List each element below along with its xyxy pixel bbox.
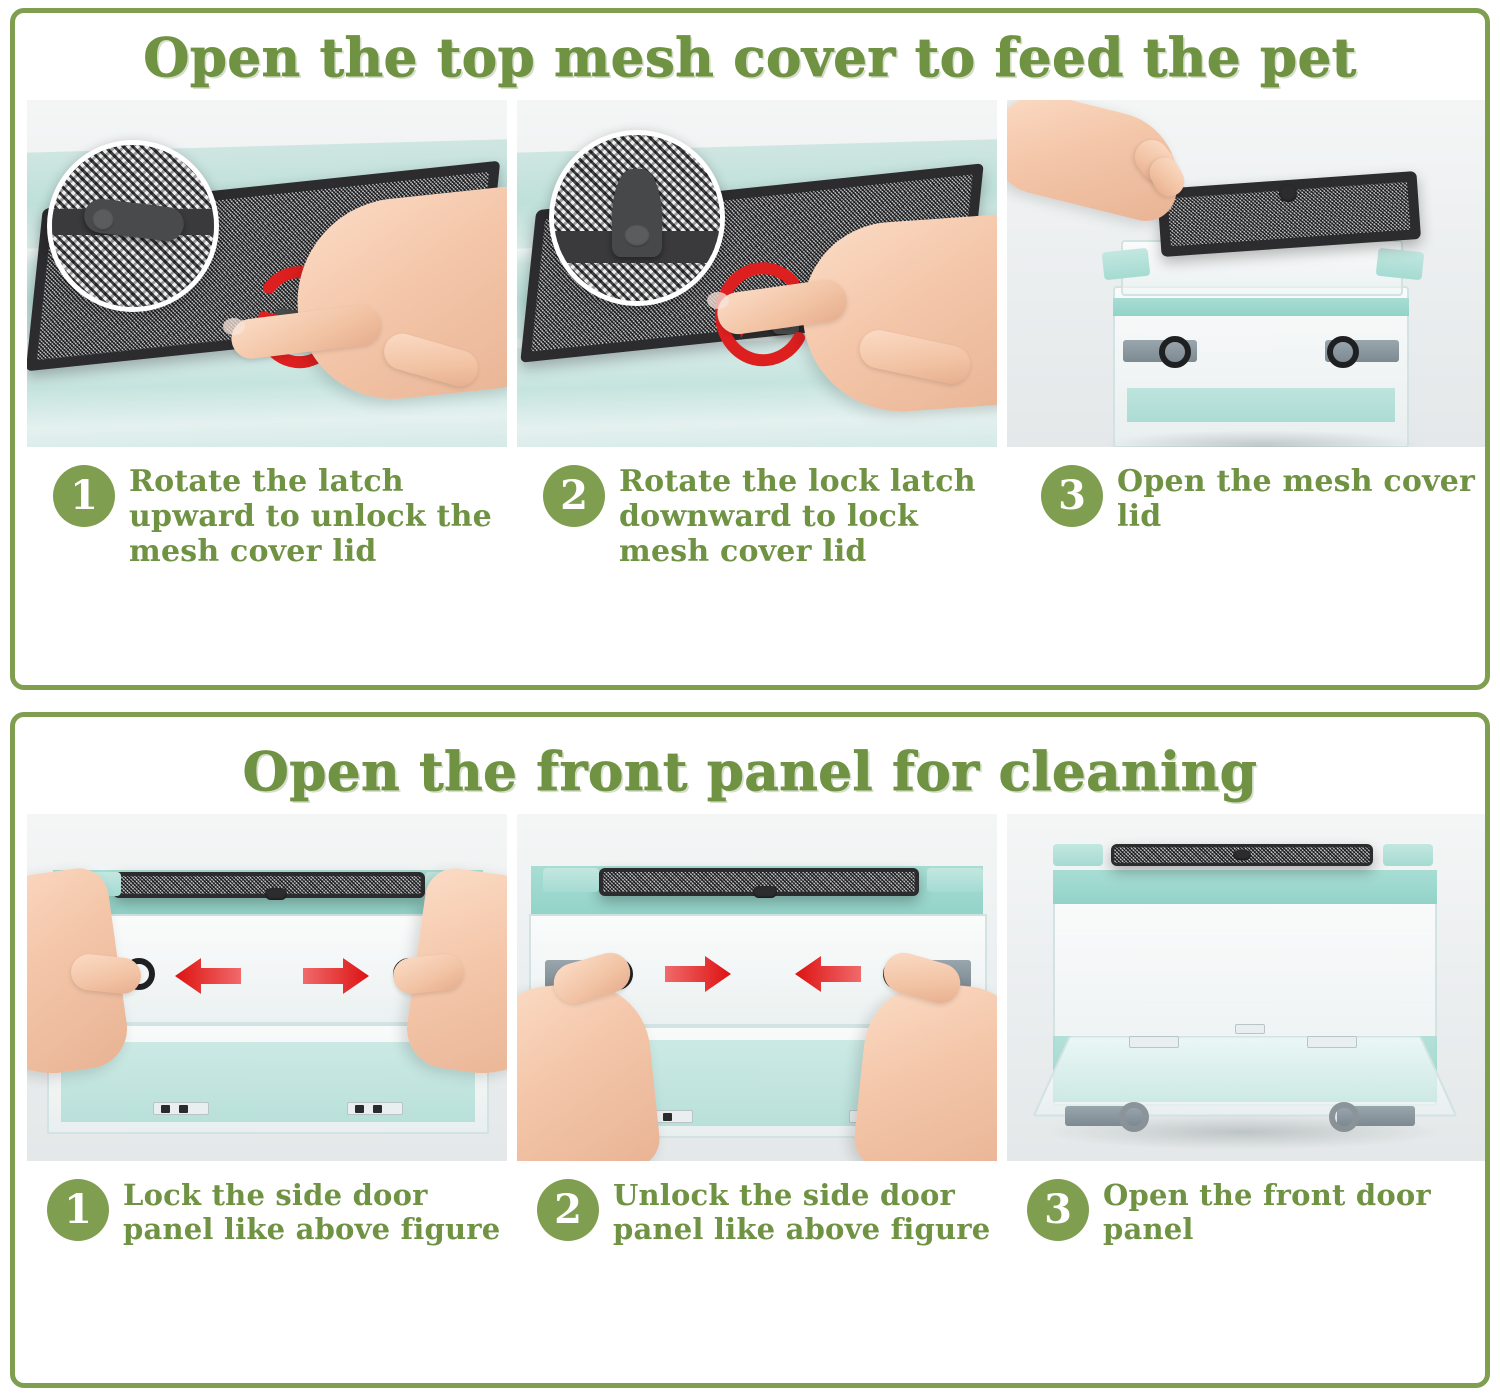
photo-rotate-latch-up [27,100,507,447]
photo-rotate-latch-down [517,100,997,447]
magnifier-callout-latch-horizontal [47,140,219,312]
terrarium-corner-cap-left [1102,247,1151,280]
lid-latch-knob [265,888,287,900]
floor-shadow [1043,1114,1443,1150]
tray-hinge-dot-left-b [179,1105,188,1113]
tray-hinge-dot-left-a [161,1105,170,1113]
tray-hinge-dot-left-b [663,1113,672,1121]
photo-unlock-side-door [517,814,997,1161]
tray-hinge-dot-right-b [373,1105,382,1113]
step-text-3: Open the mesh cover lid [1117,461,1490,535]
section-title-top: Open the top mesh cover to feed the pet [15,13,1485,100]
photo-lift-mesh-lid [1007,100,1487,447]
step-caption-2: 2 Unlock the side door panel like above … [517,1175,1007,1383]
step-badge-2: 2 [537,1179,599,1241]
step-text-1: Lock the side door panel like above figu… [123,1175,517,1246]
step-text-2: Unlock the side door panel like above fi… [613,1175,1007,1246]
arrow-right-outward [303,956,369,996]
infographic-page: Open the top mesh cover to feed the pet [0,0,1500,1400]
terrarium-corner-cap-left [1053,844,1103,866]
lid-latch-knob [753,886,777,898]
section-top-mesh-cover: Open the top mesh cover to feed the pet [10,8,1490,690]
side-lock-ring-left [1159,336,1191,368]
terrarium-corner-cap-right [1376,247,1425,280]
arrow-right-inward [795,954,861,994]
step-badge-1: 1 [53,465,115,527]
door-hinge-clip-left [1129,1036,1179,1048]
section-title-bottom: Open the front panel for cleaning [15,717,1485,814]
callout-latch-knob [92,209,114,231]
terrarium-mint-top-rail [1113,298,1409,316]
side-lock-ring-right [1327,336,1359,368]
fingernail [707,292,729,309]
terrarium-bottom-tray [1127,388,1395,422]
callout-latch-knob [624,225,650,247]
photo-row-top [15,100,1485,447]
terrarium-corner-cap-right [927,868,983,892]
door-hinge-clip-center [1235,1024,1265,1034]
step-text-2: Rotate the lock latch downward to lock m… [619,461,1007,570]
step-badge-2: 2 [543,465,605,527]
step-caption-2: 2 Rotate the lock latch downward to lock… [517,461,1007,685]
arrow-left-outward [175,956,241,996]
caption-row-bottom: 1 Lock the side door panel like above fi… [15,1161,1485,1383]
fingernail [223,318,245,335]
photo-front-door-open [1007,814,1487,1161]
terrarium-mint-top-rail [1053,870,1437,904]
arrow-left-inward [665,954,731,994]
step-badge-3: 3 [1041,465,1103,527]
step-caption-1: 1 Rotate the latch upward to unlock the … [27,461,517,685]
caption-row-top: 1 Rotate the latch upward to unlock the … [15,447,1485,685]
door-hinge-clip-right [1307,1036,1357,1048]
step-text-1: Rotate the latch upward to unlock the me… [129,461,517,570]
step-badge-3: 3 [1027,1179,1089,1241]
step-caption-3: 3 Open the mesh cover lid [1007,461,1490,685]
photo-row-bottom [15,814,1485,1161]
photo-lock-side-door [27,814,507,1161]
magnifier-callout-latch-vertical [549,130,725,306]
terrarium-bottom-tray [61,1042,475,1122]
terrarium-corner-cap-right [1383,844,1433,866]
step-badge-1: 1 [47,1179,109,1241]
lid-latch-knob [1233,850,1251,860]
step-caption-3: 3 Open the front door panel [1007,1175,1490,1383]
step-caption-1: 1 Lock the side door panel like above fi… [27,1175,517,1383]
section-front-panel-cleaning: Open the front panel for cleaning [10,712,1490,1388]
step-text-3: Open the front door panel [1103,1175,1490,1246]
lid-latch-knob [1279,184,1297,202]
tray-hinge-dot-right-a [355,1105,364,1113]
terrarium-corner-cap-left [543,868,599,892]
